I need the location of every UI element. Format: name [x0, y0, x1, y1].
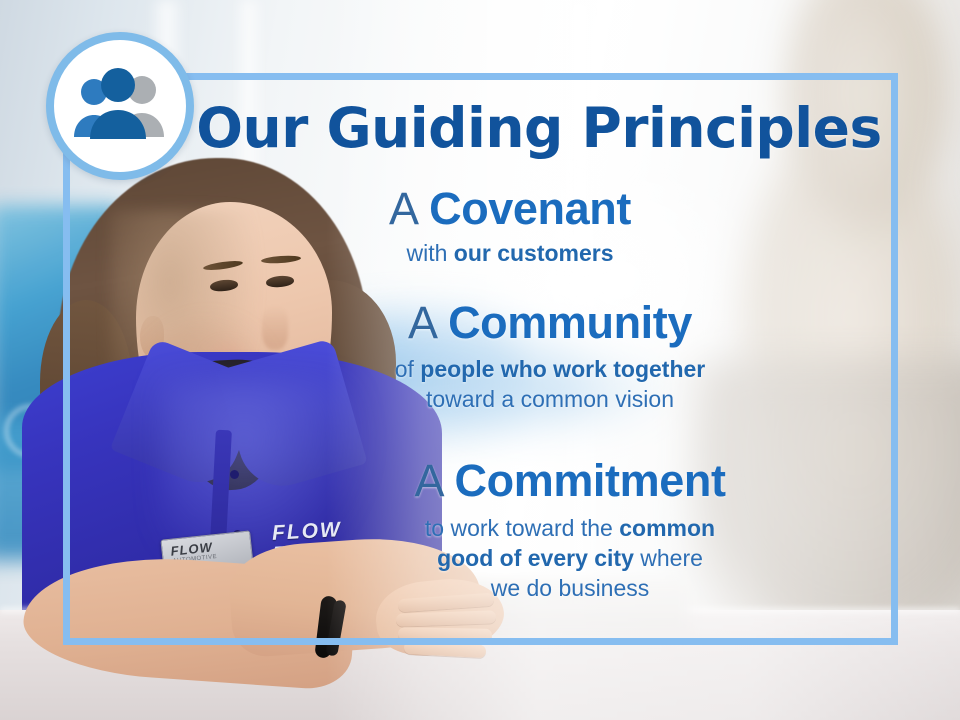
subtext-plain: of — [395, 356, 421, 382]
principle-block-commitment: A Commitment to work toward the commongo… — [250, 458, 890, 603]
principle-subtext: with our customers — [190, 239, 830, 269]
principle-block-community: A Community of people who work togethert… — [230, 300, 870, 415]
principle-heading: A Community — [230, 300, 870, 347]
principle-block-covenant: A Covenant with our customers — [190, 186, 830, 269]
principle-article: A — [408, 297, 436, 348]
principle-subtext-line: with our customers — [190, 239, 830, 269]
subtext-emphasis: common — [619, 515, 715, 541]
subtext-plain: where — [634, 545, 703, 571]
principle-subtext-line: good of every city where — [250, 544, 890, 574]
principle-subtext: of people who work togethertoward a comm… — [230, 355, 870, 415]
principle-heading: A Covenant — [190, 186, 830, 233]
principle-subtext-line: to work toward the common — [250, 514, 890, 544]
principle-subtext-line: toward a common vision — [230, 385, 870, 415]
principle-subtext: to work toward the commongood of every c… — [250, 514, 890, 604]
subtext-plain: to work toward the — [425, 515, 619, 541]
subtext-emphasis: good of every city — [437, 545, 634, 571]
principle-word: Commitment — [455, 455, 726, 506]
principle-heading: A Commitment — [250, 458, 890, 505]
principle-subtext-line: of people who work together — [230, 355, 870, 385]
principle-article: A — [414, 455, 442, 506]
subtext-plain: we do business — [491, 575, 650, 601]
principle-word: Community — [448, 297, 692, 348]
principle-article: A — [389, 183, 417, 234]
poster-canvas: FLOW FLOW AUTOMOTIVE — [0, 0, 960, 720]
subtext-plain: toward a common vision — [426, 386, 674, 412]
subtext-emphasis: people who work together — [420, 356, 705, 382]
principle-subtext-line: we do business — [250, 574, 890, 604]
subtext-plain: with — [406, 240, 453, 266]
principle-word: Covenant — [429, 183, 631, 234]
subtext-emphasis: our customers — [454, 240, 614, 266]
page-title: Our Guiding Principles — [0, 96, 960, 160]
